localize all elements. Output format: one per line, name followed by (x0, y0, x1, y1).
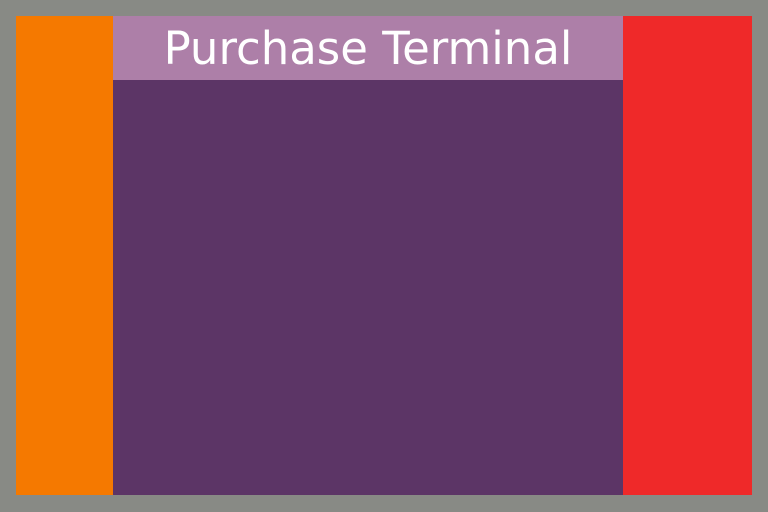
terminal-content-area (113, 80, 623, 495)
right-accent-panel (623, 16, 752, 495)
left-accent-panel (16, 16, 113, 495)
purchase-terminal-window: Purchase Terminal (113, 16, 623, 495)
page-title: Purchase Terminal (164, 26, 573, 71)
terminal-titlebar: Purchase Terminal (113, 16, 623, 80)
app-root: Purchase Terminal (0, 0, 768, 512)
